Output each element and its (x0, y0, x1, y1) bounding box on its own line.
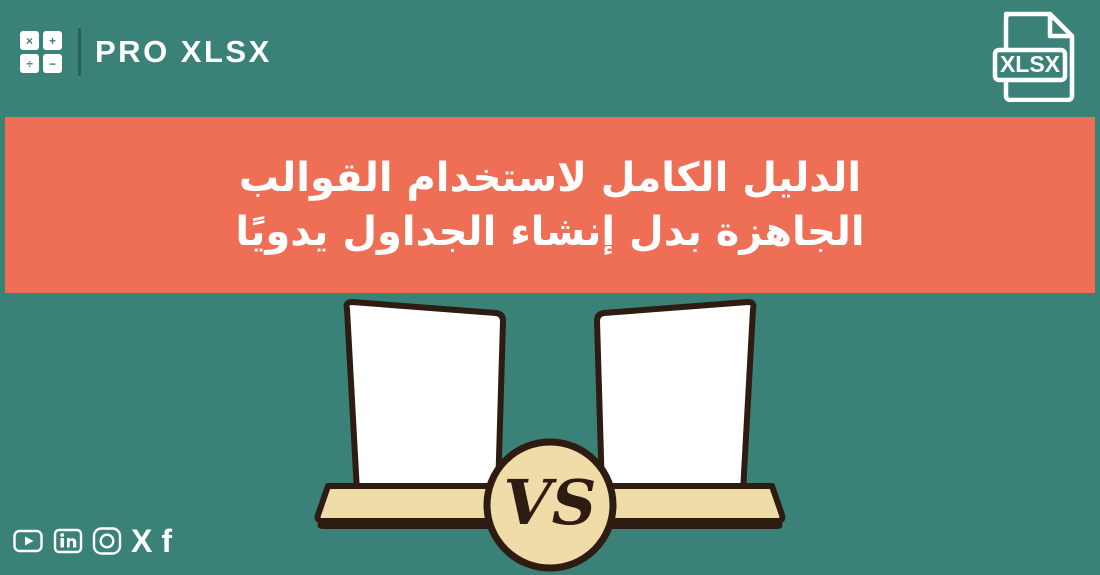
linkedin-icon[interactable] (53, 525, 83, 557)
right-laptop-screen (597, 302, 753, 492)
facebook-icon[interactable]: f (161, 526, 172, 556)
brand-logo[interactable]: × + ÷ − PRO XLSX (20, 28, 272, 76)
social-bar: X f (12, 525, 172, 557)
poster-canvas: × + ÷ − PRO XLSX XLSX الدليل الكامل لاست… (0, 0, 1100, 575)
calculator-key-divide: ÷ (20, 54, 39, 73)
versus-badge-label: VS (504, 466, 597, 539)
brand-name: PRO XLSX (95, 34, 272, 70)
calculator-key-plus: + (43, 31, 62, 50)
calculator-icon: × + ÷ − (20, 31, 62, 73)
headline-line-2: الجاهزة بدل إنشاء الجداول يدويًا (235, 205, 864, 259)
headline-banner: الدليل الكامل لاستخدام القوالب الجاهزة ب… (5, 117, 1095, 293)
instagram-icon[interactable] (92, 525, 122, 557)
brand-divider (78, 28, 81, 76)
header-bar: × + ÷ − PRO XLSX XLSX (0, 0, 1100, 108)
versus-badge: VS (487, 442, 613, 568)
calculator-key-multiply: × (20, 31, 39, 50)
x-icon[interactable]: X (131, 526, 152, 556)
youtube-icon[interactable] (12, 525, 44, 557)
xlsx-file-label: XLSX (1000, 51, 1061, 77)
versus-illustration: VS (300, 296, 800, 575)
left-laptop-screen (347, 302, 503, 492)
xlsx-file-icon: XLSX (992, 8, 1084, 102)
calculator-key-minus: − (43, 54, 62, 73)
headline-line-1: الدليل الكامل لاستخدام القوالب (239, 151, 861, 205)
